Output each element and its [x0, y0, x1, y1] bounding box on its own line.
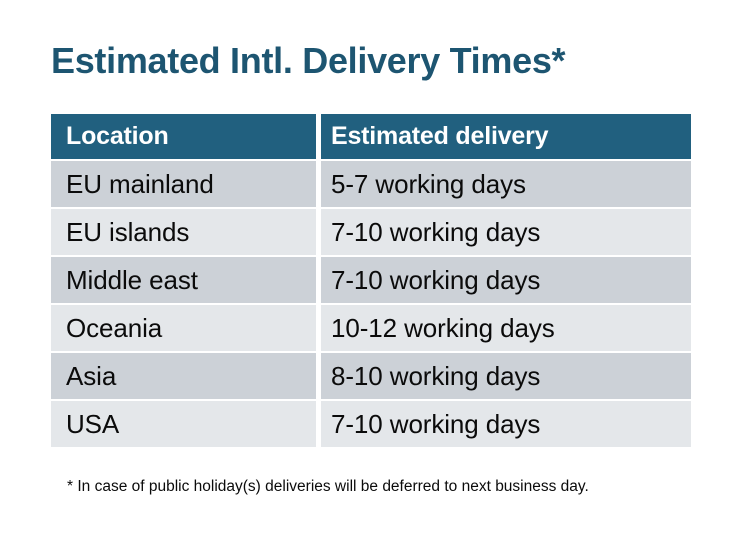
table-row: Middle east 7-10 working days: [51, 257, 691, 303]
delivery-times-infographic: Estimated Intl. Delivery Times* Location…: [0, 0, 745, 536]
cell-location: USA: [51, 401, 316, 447]
cell-location: Oceania: [51, 305, 316, 351]
cell-location: EU islands: [51, 209, 316, 255]
cell-estimated-delivery: 8-10 working days: [321, 353, 691, 399]
footnote-text: * In case of public holiday(s) deliverie…: [67, 477, 727, 497]
column-header-estimated-delivery: Estimated delivery: [321, 114, 691, 159]
cell-location: Asia: [51, 353, 316, 399]
table-row: Oceania 10-12 working days: [51, 305, 691, 351]
delivery-times-table: Location Estimated delivery EU mainland …: [51, 114, 691, 447]
table-row: EU islands 7-10 working days: [51, 209, 691, 255]
table-row: EU mainland 5-7 working days: [51, 161, 691, 207]
cell-location: EU mainland: [51, 161, 316, 207]
cell-estimated-delivery: 7-10 working days: [321, 257, 691, 303]
table-header-row: Location Estimated delivery: [51, 114, 691, 159]
cell-location: Middle east: [51, 257, 316, 303]
page-title: Estimated Intl. Delivery Times*: [51, 36, 711, 86]
column-header-location: Location: [51, 114, 316, 159]
cell-estimated-delivery: 5-7 working days: [321, 161, 691, 207]
cell-estimated-delivery: 7-10 working days: [321, 209, 691, 255]
cell-estimated-delivery: 10-12 working days: [321, 305, 691, 351]
cell-estimated-delivery: 7-10 working days: [321, 401, 691, 447]
table-row: USA 7-10 working days: [51, 401, 691, 447]
table-row: Asia 8-10 working days: [51, 353, 691, 399]
